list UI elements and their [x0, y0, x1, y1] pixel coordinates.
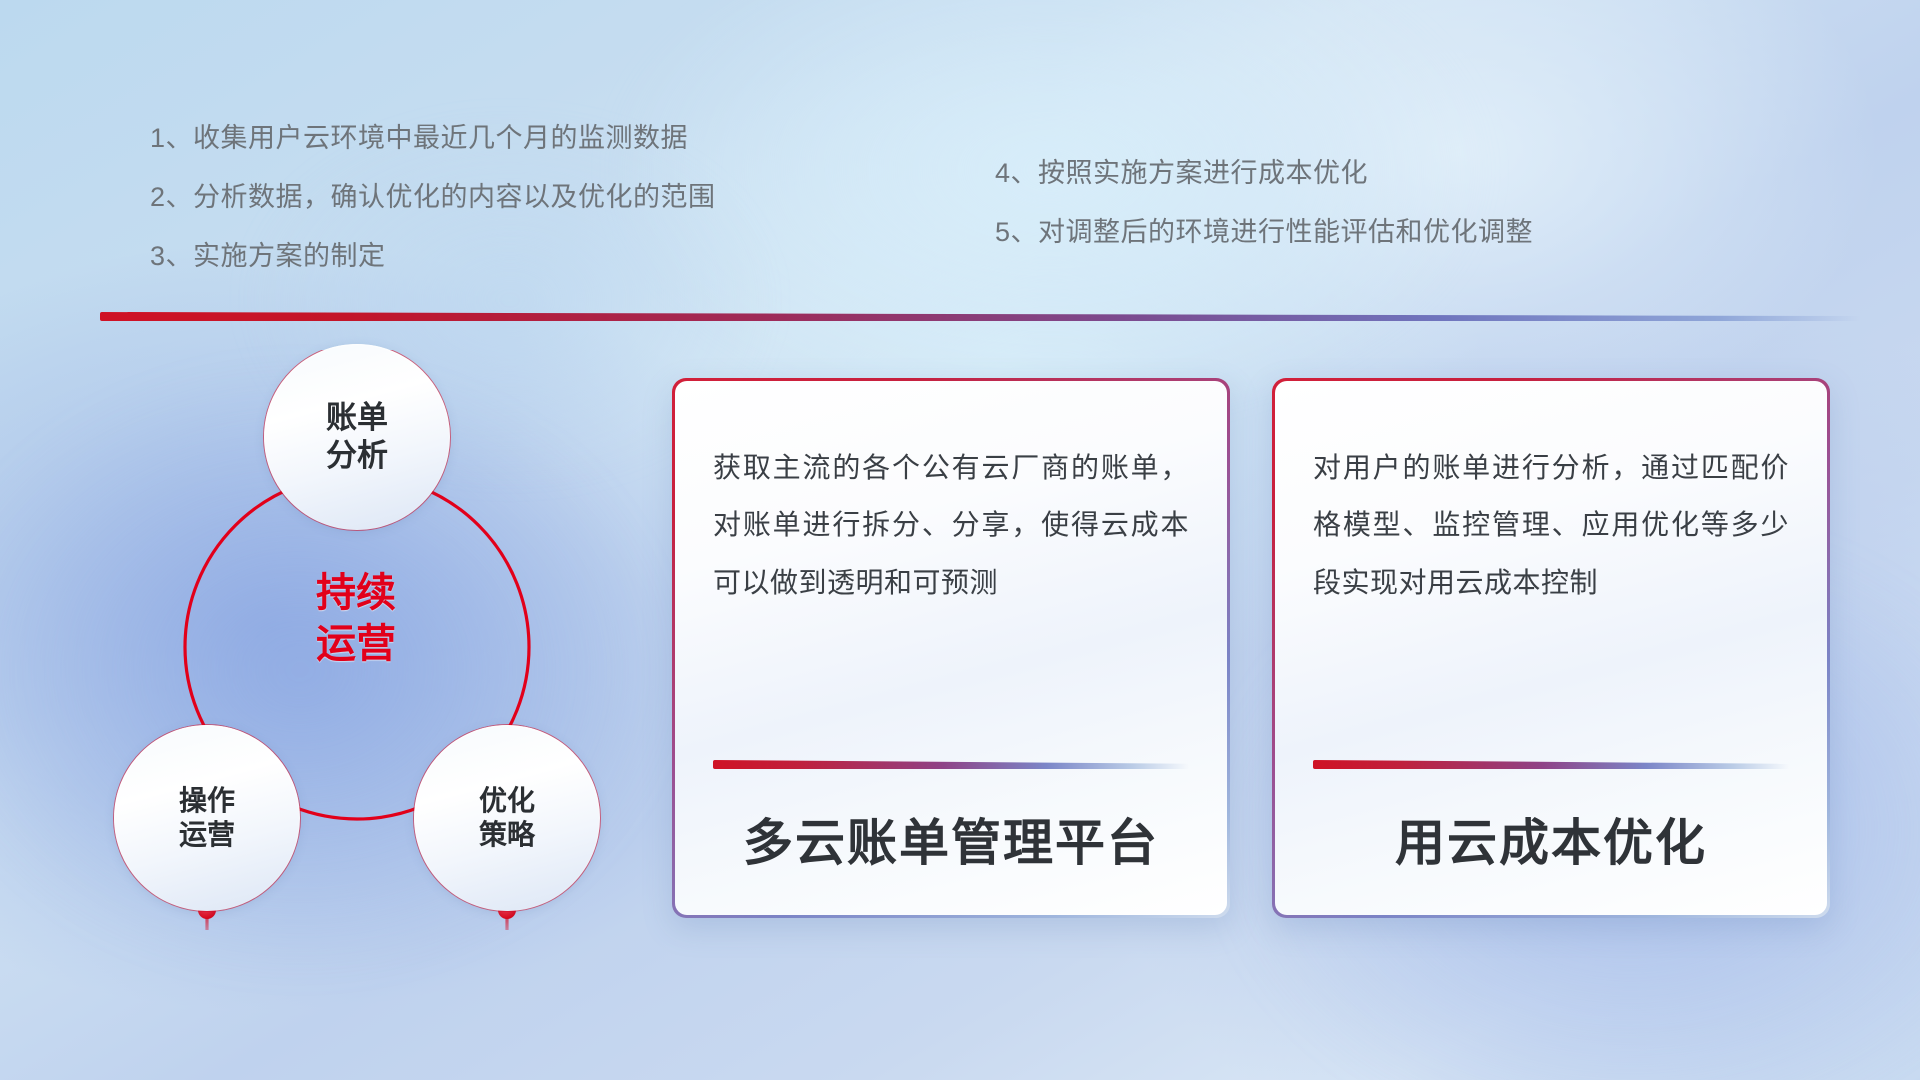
- card-divider-rule: [713, 760, 1189, 769]
- bubble-label: 账单 分析: [326, 399, 388, 475]
- bubble-optimization-strategy[interactable]: 优化 策略: [414, 725, 600, 911]
- card-title: 多云账单管理平台: [713, 769, 1189, 915]
- card-body-text: 获取主流的各个公有云厂商的账单，对账单进行拆分、分享，使得云成本可以做到透明和可…: [713, 439, 1189, 611]
- bullet-list-right: 4、按照实施方案进行成本优化 5、对调整后的环境进行性能评估和优化调整: [995, 160, 1533, 278]
- info-card-cloud-cost-optimization[interactable]: 对用户的账单进行分析，通过匹配价格模型、监控管理、应用优化等多少段实现对用云成本…: [1272, 378, 1830, 918]
- bubble-label-line2: 策略: [479, 819, 535, 850]
- bubble-label-line2: 分析: [326, 438, 388, 473]
- bullet-item: 4、按照实施方案进行成本优化: [995, 160, 1533, 187]
- card-divider-rule: [1313, 760, 1789, 769]
- center-label-line1: 持续: [316, 571, 396, 615]
- bullet-item: 1、收集用户云环境中最近几个月的监测数据: [150, 125, 716, 152]
- bullet-list-left: 1、收集用户云环境中最近几个月的监测数据 2、分析数据，确认优化的内容以及优化的…: [150, 125, 716, 302]
- card-inner: 获取主流的各个公有云厂商的账单，对账单进行拆分、分享，使得云成本可以做到透明和可…: [675, 381, 1227, 915]
- bubble-label-line2: 运营: [179, 819, 235, 850]
- bubble-bill-analysis[interactable]: 账单 分析: [264, 344, 450, 530]
- bubble-label-line1: 操作: [179, 785, 235, 816]
- bubble-label-line1: 优化: [479, 785, 535, 816]
- diagram-center-label: 持续 运营: [256, 568, 456, 670]
- bubble-label: 优化 策略: [479, 784, 535, 852]
- bullet-item: 2、分析数据，确认优化的内容以及优化的范围: [150, 184, 716, 211]
- card-body-text: 对用户的账单进行分析，通过匹配价格模型、监控管理、应用优化等多少段实现对用云成本…: [1313, 439, 1789, 611]
- card-title: 用云成本优化: [1313, 769, 1789, 915]
- center-label-line2: 运营: [316, 622, 396, 666]
- bubble-label: 操作 运营: [179, 784, 235, 852]
- bubble-operations[interactable]: 操作 运营: [114, 725, 300, 911]
- info-card-multicloud-billing[interactable]: 获取主流的各个公有云厂商的账单，对账单进行拆分、分享，使得云成本可以做到透明和可…: [672, 378, 1230, 918]
- bullet-item: 3、实施方案的制定: [150, 243, 716, 270]
- continuous-operation-diagram: 账单 分析 操作 运营 优化 策略 持续 运营: [96, 350, 616, 930]
- slide-canvas: 1、收集用户云环境中最近几个月的监测数据 2、分析数据，确认优化的内容以及优化的…: [0, 0, 1920, 1080]
- card-inner: 对用户的账单进行分析，通过匹配价格模型、监控管理、应用优化等多少段实现对用云成本…: [1275, 381, 1827, 915]
- bubble-label-line1: 账单: [326, 400, 388, 435]
- bullet-item: 5、对调整后的环境进行性能评估和优化调整: [995, 219, 1533, 246]
